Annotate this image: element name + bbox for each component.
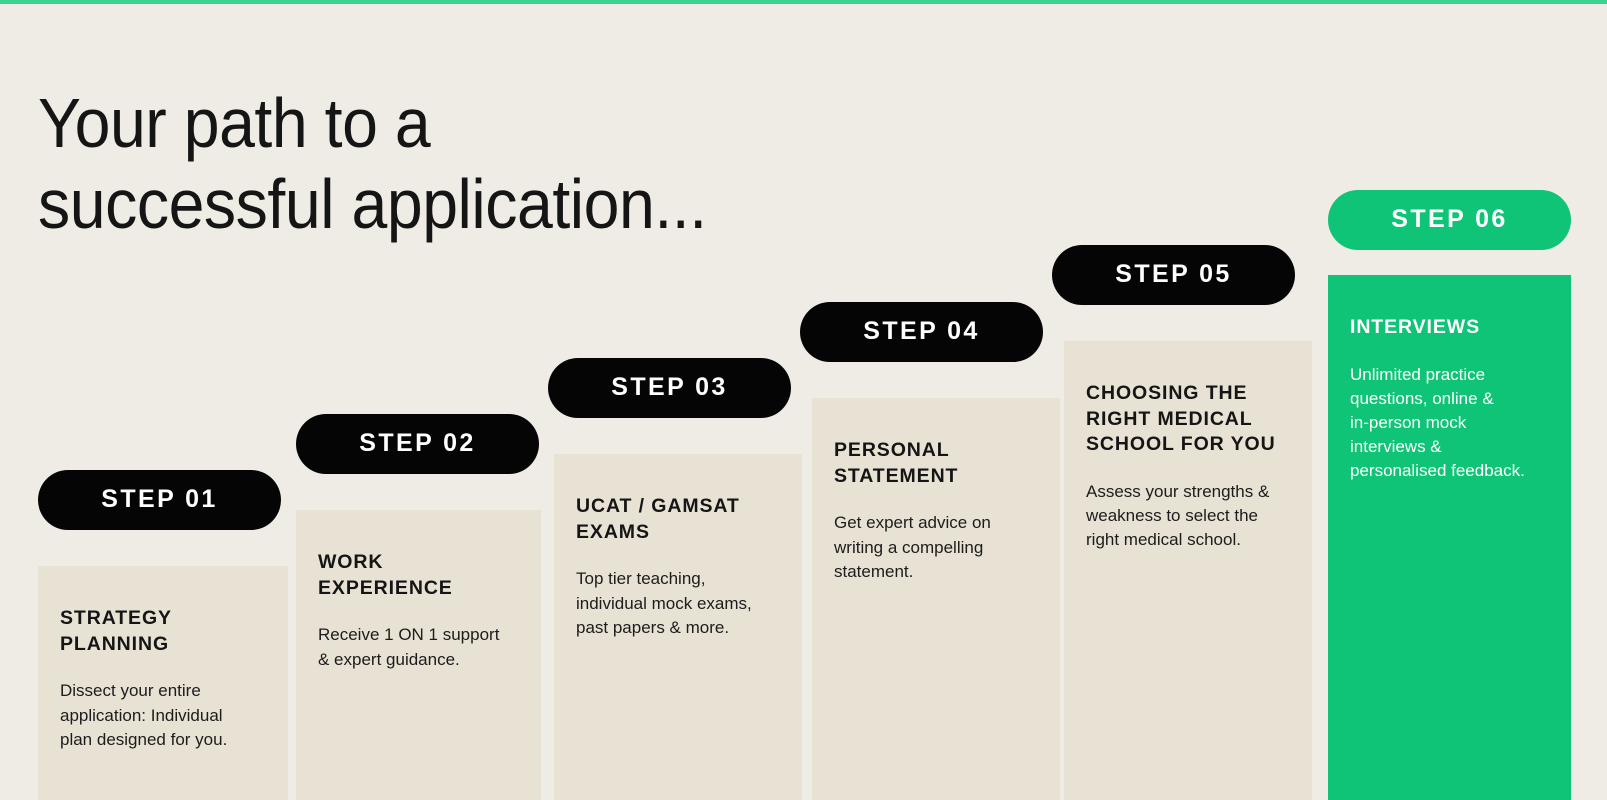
step-badge-5[interactable]: STEP 05: [1052, 245, 1295, 305]
step-badge-1[interactable]: STEP 01: [38, 470, 281, 530]
step-badge-label: STEP 04: [863, 317, 979, 346]
step-body-6[interactable]: INTERVIEWS Unlimited practice questions,…: [1328, 275, 1571, 800]
step-title-2: WORK EXPERIENCE: [318, 550, 519, 601]
step-card-6: STEP 06 INTERVIEWS Unlimited practice qu…: [1328, 190, 1571, 800]
step-description-6: Unlimited practice questions, online & i…: [1350, 363, 1549, 484]
step-badge-label: STEP 02: [359, 429, 475, 458]
step-badge-2[interactable]: STEP 02: [296, 414, 539, 474]
step-title-1: STRATEGY PLANNING: [60, 606, 266, 657]
step-body-2[interactable]: WORK EXPERIENCE Receive 1 ON 1 support &…: [296, 510, 541, 800]
step-body-1[interactable]: STRATEGY PLANNING Dissect your entire ap…: [38, 566, 288, 800]
step-badge-label: STEP 05: [1115, 260, 1231, 289]
step-card-3: STEP 03 UCAT / GAMSAT EXAMS Top tier tea…: [548, 358, 796, 800]
step-description-2: Receive 1 ON 1 support & expert guidance…: [318, 623, 519, 671]
step-title-3: UCAT / GAMSAT EXAMS: [576, 494, 780, 545]
steps-staircase: STEP 01 STRATEGY PLANNING Dissect your e…: [0, 0, 1607, 800]
step-badge-4[interactable]: STEP 04: [800, 302, 1043, 362]
step-badge-label: STEP 06: [1391, 205, 1507, 234]
step-card-1: STEP 01 STRATEGY PLANNING Dissect your e…: [38, 470, 288, 800]
step-badge-label: STEP 01: [101, 485, 217, 514]
step-title-5: CHOOSING THE RIGHT MEDICAL SCHOOL FOR YO…: [1086, 381, 1290, 458]
step-description-1: Dissect your entire application: Individ…: [60, 679, 266, 751]
step-description-5: Assess your strengths & weakness to sele…: [1086, 480, 1290, 552]
step-badge-label: STEP 03: [611, 373, 727, 402]
step-badge-6[interactable]: STEP 06: [1328, 190, 1571, 250]
step-body-3[interactable]: UCAT / GAMSAT EXAMS Top tier teaching, i…: [554, 454, 802, 800]
step-card-2: STEP 02 WORK EXPERIENCE Receive 1 ON 1 s…: [296, 414, 541, 800]
step-card-5: STEP 05 CHOOSING THE RIGHT MEDICAL SCHOO…: [1052, 245, 1300, 800]
page-root: Your path to a successful application...…: [0, 0, 1607, 800]
step-title-4: PERSONAL STATEMENT: [834, 438, 1038, 489]
step-description-3: Top tier teaching, individual mock exams…: [576, 567, 780, 639]
step-body-5[interactable]: CHOOSING THE RIGHT MEDICAL SCHOOL FOR YO…: [1064, 341, 1312, 800]
step-body-4[interactable]: PERSONAL STATEMENT Get expert advice on …: [812, 398, 1060, 800]
step-badge-3[interactable]: STEP 03: [548, 358, 791, 418]
step-description-4: Get expert advice on writing a compellin…: [834, 511, 1038, 583]
step-title-6: INTERVIEWS: [1350, 315, 1549, 341]
step-card-4: STEP 04 PERSONAL STATEMENT Get expert ad…: [800, 302, 1048, 800]
